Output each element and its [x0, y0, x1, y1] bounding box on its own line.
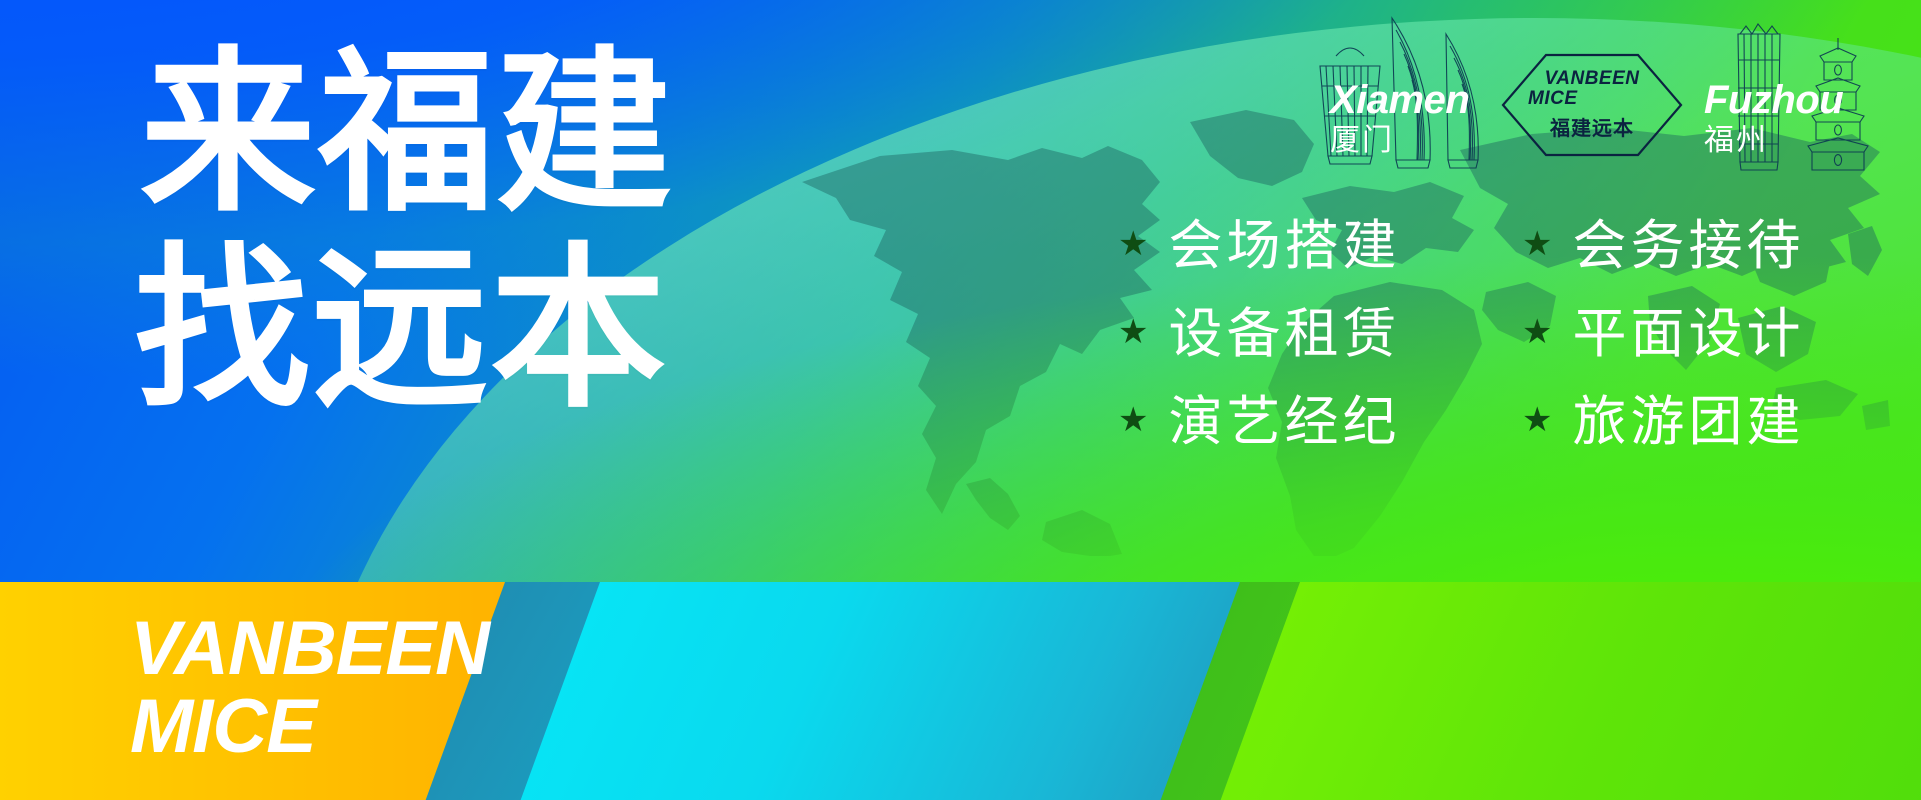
service-label: 会务接待: [1572, 206, 1804, 286]
city-name-en: Xiamen: [1330, 80, 1469, 120]
services-list: ★ 会场搭建 ★ 会务接待 ★ 设备租赁 ★ 平面设计 ★ 演艺经纪 ★ 旅游团…: [1118, 206, 1908, 462]
star-icon: ★: [1522, 403, 1556, 437]
star-icon: ★: [1118, 315, 1152, 349]
wordmark-line-1: VANBEEN: [130, 610, 489, 688]
bottom-strip: VANBEEN MICE: [0, 582, 1921, 800]
city-label-xiamen: Xiamen 厦门: [1330, 80, 1469, 156]
star-icon: ★: [1522, 315, 1556, 349]
diagonal-band-green: [1221, 582, 1921, 800]
hexagon-outline-icon: [1500, 52, 1684, 158]
star-icon: ★: [1522, 227, 1556, 261]
service-label: 演艺经纪: [1168, 382, 1400, 462]
promotional-banner: 来福建 找远本: [0, 0, 1921, 800]
service-item: ★ 平面设计: [1522, 294, 1908, 374]
city-label-fuzhou: Fuzhou 福州: [1704, 80, 1843, 156]
city-name-en: Fuzhou: [1704, 80, 1843, 120]
headline-line-2: 找远本: [134, 232, 674, 428]
headline-line-1: 来福建: [140, 36, 674, 232]
brand-wordmark: VANBEEN MICE: [130, 610, 489, 766]
star-icon: ★: [1118, 403, 1152, 437]
service-item: ★ 会务接待: [1522, 206, 1908, 286]
headline: 来福建 找远本: [140, 36, 674, 428]
star-icon: ★: [1118, 227, 1152, 261]
city-name-cn: 福州: [1704, 126, 1843, 156]
service-label: 旅游团建: [1572, 382, 1804, 462]
service-item: ★ 设备租赁: [1118, 294, 1504, 374]
service-item: ★ 会场搭建: [1118, 206, 1504, 286]
service-label: 平面设计: [1572, 294, 1804, 374]
service-item: ★ 演艺经纪: [1118, 382, 1504, 462]
service-label: 设备租赁: [1168, 294, 1400, 374]
main-panel: 来福建 找远本: [0, 0, 1921, 582]
city-logo-lockup: Xiamen 厦门 VANBEEN MICE 福建远本 Fuzhou 福州: [1300, 4, 1920, 184]
service-label: 会场搭建: [1168, 206, 1400, 286]
city-name-cn: 厦门: [1330, 126, 1469, 156]
service-item: ★ 旅游团建: [1522, 382, 1908, 462]
wordmark-line-2: MICE: [130, 688, 489, 766]
brand-hex-badge: VANBEEN MICE 福建远本: [1500, 52, 1684, 158]
